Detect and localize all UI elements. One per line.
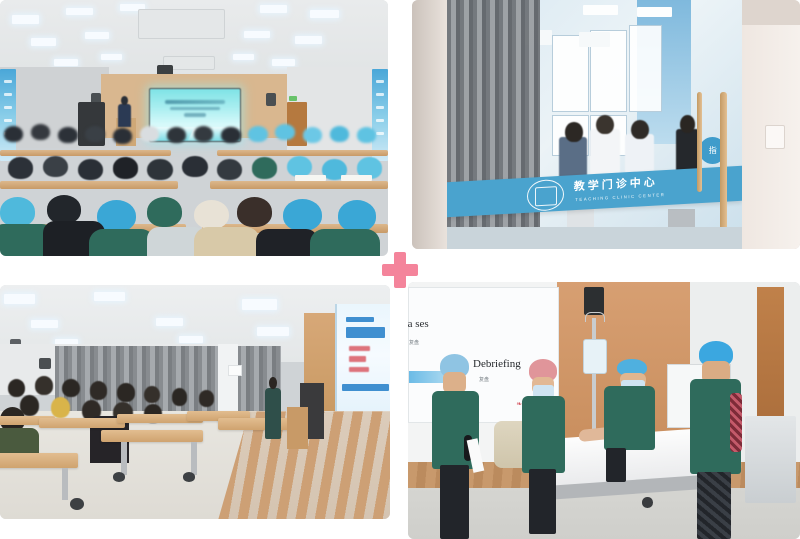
air-vent — [148, 294, 187, 310]
floor — [447, 227, 742, 249]
light-switch[interactable] — [765, 125, 784, 149]
exit-sign — [289, 96, 297, 101]
ceiling-light — [54, 59, 77, 66]
ceiling-light — [31, 320, 58, 328]
classroom-desk — [0, 453, 78, 467]
university-emblem-icon — [527, 179, 564, 212]
patterned-sleeve — [730, 393, 742, 452]
wall-shadow — [412, 0, 447, 249]
ceiling-light — [4, 294, 35, 303]
classroom-desk — [101, 430, 202, 442]
ceiling-light — [233, 54, 254, 60]
slide-subtitle-debriefing: 复盘 — [479, 376, 489, 383]
ceiling-light — [12, 15, 39, 23]
cross-bar-vertical — [394, 252, 406, 288]
person-head — [680, 115, 696, 134]
ceiling-light — [579, 32, 610, 47]
wall-speaker — [266, 93, 276, 106]
ceiling-light — [85, 32, 108, 39]
instructor — [265, 388, 281, 439]
ceiling-soffit — [742, 0, 800, 25]
staff-member — [604, 359, 655, 482]
green-scrub — [522, 396, 565, 473]
ceiling-light — [156, 318, 183, 326]
ceiling-light — [272, 59, 295, 66]
ceiling-light — [583, 5, 618, 15]
ceiling-light — [260, 5, 287, 13]
name-card — [295, 175, 326, 182]
face — [443, 372, 467, 392]
ceiling-light — [179, 336, 202, 343]
staff-member — [432, 354, 479, 539]
green-scrub — [604, 386, 655, 450]
wall-notice — [228, 365, 242, 376]
clinic-name-chinese: 教学门诊中心 — [574, 174, 658, 195]
ceiling-light — [242, 299, 277, 310]
lectern — [287, 407, 308, 449]
slide-text-debriefing: Debriefing — [473, 358, 521, 370]
instrument-cart — [745, 416, 796, 503]
ceiling-light — [257, 327, 288, 336]
photo-top-right[interactable]: 教学门诊中心 TEACHING CLINIC CENTER 指 — [412, 0, 800, 249]
photo-bottom-right[interactable]: ia ses 复盘 Debriefing 复盘 ❧❧ — [408, 282, 800, 539]
ceiling-light — [66, 8, 93, 16]
classroom-desk — [39, 418, 125, 427]
ceiling-light — [310, 10, 339, 18]
person-seated — [590, 129, 619, 179]
staff-member — [690, 341, 741, 539]
ceiling-light — [101, 54, 122, 60]
person-head — [631, 120, 648, 140]
door-handle-inner[interactable] — [697, 92, 702, 192]
ceiling-light — [31, 38, 56, 46]
ceiling-light — [244, 31, 269, 38]
iv-hook — [585, 312, 606, 322]
slide-subtitle-partial: 复盘 — [409, 339, 419, 346]
air-vent — [74, 290, 109, 304]
door-handle[interactable] — [720, 92, 726, 236]
bed-wheel — [642, 497, 653, 508]
slide-text-partial: ia ses — [408, 318, 429, 330]
person-head — [596, 115, 613, 135]
medical-cross-marker — [380, 250, 420, 290]
name-card — [341, 175, 372, 182]
window — [629, 25, 662, 112]
ceiling-light — [295, 36, 322, 44]
wall-speaker — [39, 358, 51, 370]
clinic-name-english: TEACHING CLINIC CENTER — [575, 192, 665, 202]
staff-member — [522, 359, 565, 534]
person-head — [565, 122, 582, 142]
photo-top-left[interactable] — [0, 0, 388, 256]
air-vent — [138, 9, 225, 39]
photo-bottom-left[interactable] — [0, 285, 390, 519]
ceiling-light — [637, 7, 672, 17]
audience-area — [0, 123, 388, 256]
photo-collage: 教学门诊中心 TEACHING CLINIC CENTER 指 — [0, 0, 800, 539]
